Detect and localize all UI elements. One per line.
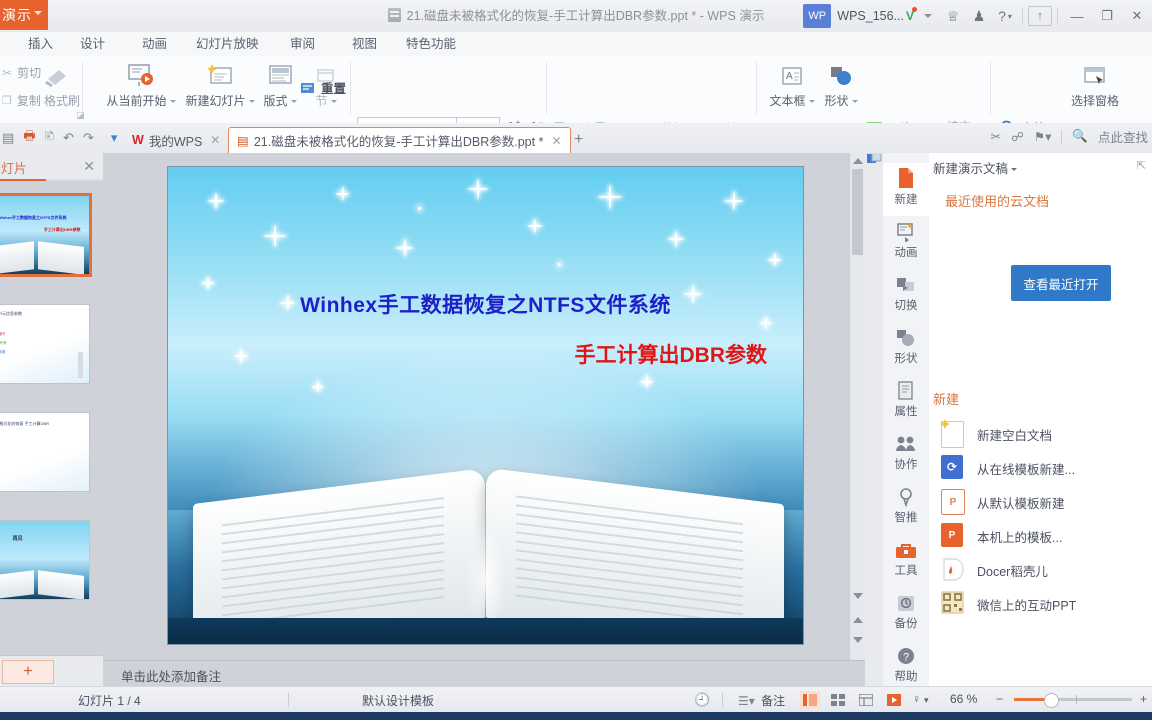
- normal-view-icon: [803, 694, 817, 706]
- star-icon: [640, 375, 653, 388]
- shape-button[interactable]: 形状: [818, 60, 864, 109]
- star-icon: [468, 179, 488, 199]
- search-icon[interactable]: 🔍: [1072, 129, 1088, 144]
- format-painter-icon: [44, 60, 70, 88]
- view-reading-button[interactable]: [856, 691, 876, 709]
- format-painter-label-row[interactable]: 格式刷: [44, 92, 80, 109]
- from-current-slide-label: 从当前开始: [102, 92, 180, 109]
- help-label: ?: [998, 8, 1006, 24]
- rail-label: 动画: [883, 244, 929, 260]
- add-slide-label: +: [23, 663, 32, 681]
- backup-icon: [883, 587, 929, 613]
- rail-item-animation[interactable]: 动画: [883, 216, 929, 269]
- book-illustration: [168, 439, 803, 644]
- account-name[interactable]: WPS_156...V: [837, 9, 918, 23]
- tab-document-label: 21.磁盘未被格式化的恢复-手工计算出DBR参数.ppt *: [254, 131, 544, 150]
- selection-pane-button[interactable]: 选择窗格: [1062, 60, 1128, 109]
- vip-badge-icon: V: [906, 9, 914, 23]
- window-title-text: 21.磁盘未被格式化的恢复-手工计算出DBR参数.ppt * - WPS 演示: [407, 9, 765, 23]
- right-rail: 新建 动画 切换 形状 属性 协作 智推 工具: [883, 153, 930, 686]
- copy-label: 复制: [17, 92, 41, 109]
- star-icon: [234, 349, 248, 363]
- cut-label: 剪切: [17, 64, 41, 81]
- toolbox-icon: [883, 534, 929, 560]
- maximize-button[interactable]: ❐: [1092, 0, 1122, 32]
- title-bar: 演示 21.磁盘未被格式化的恢复-手工计算出DBR参数.ppt * - WPS …: [0, 0, 1152, 33]
- help-circle-icon: ?: [883, 640, 929, 666]
- slide-count-label: 幻灯片 1 / 4: [78, 692, 141, 709]
- rail-item-new[interactable]: 新建: [883, 163, 929, 216]
- reading-view-icon: [859, 694, 873, 706]
- divider: [350, 62, 351, 114]
- tab-slideshow[interactable]: 幻灯片放映: [196, 32, 259, 56]
- customize-toolbar-icon[interactable]: ▾: [111, 130, 118, 146]
- list-item-wechat-ppt[interactable]: 微信上的互动PPT: [941, 587, 1141, 621]
- format-painter-label: 格式刷: [44, 92, 80, 109]
- ppt-file-icon: ▤: [237, 133, 249, 148]
- new-tab-button[interactable]: +: [566, 127, 591, 153]
- redo-icon[interactable]: ↷: [83, 130, 94, 146]
- star-icon: [768, 253, 781, 266]
- divider: [1057, 8, 1058, 24]
- list-item-label: 新建空白文档: [977, 425, 1052, 444]
- textbox-label: 文本框: [766, 92, 818, 109]
- tab-design[interactable]: 设计: [80, 32, 105, 56]
- list-item[interactable]: Winhex手工数据恢复之NTFS文件系统 手工计算出DBR参数: [0, 196, 89, 274]
- panel-header: 新建演示文稿 ⇱: [929, 153, 1152, 179]
- list-item-label: 微信上的互动PPT: [977, 595, 1076, 614]
- properties-icon: [883, 375, 929, 401]
- tab-document[interactable]: ▤ 21.磁盘未被格式化的恢复-手工计算出DBR参数.ppt * ✕: [228, 127, 571, 153]
- close-icon[interactable]: ✕: [210, 133, 220, 147]
- star-icon: [668, 231, 684, 247]
- collapse-panel-icon[interactable]: ⇱: [1137, 159, 1146, 172]
- copy-button[interactable]: ❐ 复制: [2, 92, 41, 109]
- scrollbar-thumb[interactable]: [852, 169, 863, 255]
- tab-insert[interactable]: 插入: [28, 32, 53, 56]
- rail-item-collaborate[interactable]: 协作: [883, 428, 929, 481]
- list-item-local-template[interactable]: P 本机上的模板...: [941, 519, 1141, 553]
- layout-icon: [256, 60, 304, 88]
- history-icon[interactable]: 🕘: [694, 692, 710, 708]
- divider: [288, 693, 289, 707]
- tab-special-features[interactable]: 特色功能: [406, 32, 456, 56]
- divider: [756, 62, 757, 114]
- star-icon: [312, 381, 323, 392]
- print-preview-icon[interactable]: 🗈: [45, 127, 55, 149]
- star-icon: [598, 185, 622, 209]
- rail-label: 新建: [883, 191, 929, 207]
- divider: [1022, 8, 1023, 24]
- notes-pane[interactable]: 单击此处添加备注: [103, 660, 865, 687]
- list-item-docer[interactable]: Docer稻壳儿: [941, 553, 1141, 587]
- share-icon[interactable]: ↑: [1027, 4, 1053, 28]
- search-label[interactable]: 点此查找: [1098, 127, 1148, 146]
- list-item-label: 从在线模板新建...: [977, 459, 1075, 478]
- notes-toggle-label: 备注: [761, 694, 785, 708]
- account-label: WPS_156...: [837, 9, 904, 23]
- ribbon: ✂ 剪切 ❐ 复制 格式刷 ◪ 从当前开始 新建幻灯片: [0, 56, 1152, 124]
- reset-icon: [300, 81, 316, 95]
- docer-icon: [941, 557, 965, 583]
- rail-label: 备份: [883, 615, 929, 631]
- scissors-icon: ✂: [2, 66, 12, 80]
- new-slide-button[interactable]: 新建幻灯片: [184, 60, 256, 109]
- rail-label: 帮助: [883, 668, 929, 684]
- zoom-out-button[interactable]: −: [996, 692, 1003, 706]
- rail-item-tools[interactable]: 工具: [883, 534, 929, 587]
- star-icon: [724, 191, 743, 210]
- notes-icon: ☰▾: [738, 694, 755, 708]
- new-section-heading: 新建: [933, 389, 959, 408]
- reset-label: 重置: [321, 78, 346, 97]
- rail-item-properties[interactable]: 属性: [883, 375, 929, 428]
- notes-toggle-button[interactable]: ☰▾ 备注: [738, 692, 785, 709]
- add-slide-button[interactable]: +: [2, 660, 54, 684]
- list-item-new-blank-doc[interactable]: 新建空白文档: [941, 417, 1141, 451]
- slide-editing-area: Winhex手工数据恢复之NTFS文件系统 手工计算出DBR参数: [103, 153, 865, 660]
- wp-logo-icon: WP: [803, 4, 831, 28]
- flag-icon[interactable]: ⚑▾: [1034, 129, 1051, 144]
- zoom-in-button[interactable]: +: [1140, 692, 1147, 706]
- previous-slide-icon[interactable]: [853, 617, 863, 623]
- rail-label: 智推: [883, 509, 929, 525]
- undo-icon[interactable]: ↶: [63, 130, 74, 146]
- book-desk: [168, 618, 803, 644]
- shape-icon: [818, 60, 864, 88]
- rail-label: 属性: [883, 403, 929, 419]
- minimize-button[interactable]: —: [1062, 0, 1092, 32]
- rail-label: 工具: [883, 562, 929, 578]
- panel-title[interactable]: 新建演示文稿: [933, 158, 1017, 177]
- wps-w-icon: W: [132, 133, 144, 147]
- collaborate-icon: [883, 428, 929, 454]
- zoom-level-label: 66 %: [950, 692, 977, 706]
- tshirt-icon[interactable]: ♟: [966, 4, 992, 28]
- list-item-label: 从默认模板新建: [977, 493, 1065, 512]
- taskbar: [0, 712, 1152, 720]
- new-tab-label: +: [574, 131, 583, 149]
- view-slideshow-button[interactable]: [884, 691, 904, 709]
- slideshow-view-icon: [887, 694, 901, 706]
- rail-item-shape[interactable]: 形状: [883, 322, 929, 375]
- slide-title[interactable]: Winhex手工数据恢复之NTFS文件系统: [168, 289, 803, 319]
- scroll-up-icon[interactable]: [853, 158, 863, 164]
- slide-canvas[interactable]: Winhex手工数据恢复之NTFS文件系统 手工计算出DBR参数: [167, 166, 804, 645]
- format-painter-button[interactable]: [44, 60, 70, 88]
- new-slide-label: 新建幻灯片: [184, 92, 256, 109]
- reset-button[interactable]: 重置: [300, 78, 346, 97]
- divider: [990, 62, 991, 114]
- selection-pane-icon: [1062, 60, 1128, 88]
- zoom-slider-handle[interactable]: [1044, 693, 1059, 708]
- divider: [82, 62, 83, 114]
- status-bar: 幻灯片 1 / 4 默认设计模板 🕘 ☰▾ 备注 ♀▾ 66 % − +: [0, 686, 1152, 713]
- smart-recommend-icon: [883, 481, 929, 507]
- slide-panel-footer: +: [0, 655, 103, 686]
- slide-vertical-scrollbar[interactable]: [849, 153, 865, 660]
- zoom-slider[interactable]: [1014, 698, 1132, 701]
- tab-animation[interactable]: 动画: [142, 32, 167, 56]
- account-chevron-down-icon[interactable]: [924, 14, 932, 18]
- copy-icon: ❐: [2, 94, 12, 107]
- tab-my-wps[interactable]: W 我的WPS ✕: [124, 127, 228, 153]
- recent-cloud-docs-heading: 最近使用的云文档: [945, 191, 1049, 210]
- presenter-icon[interactable]: ♀▾: [912, 692, 929, 706]
- animation-icon: [883, 216, 929, 242]
- tab-strip-right: ✂ ☍ ⚑▾ 🔍 点此查找: [991, 127, 1152, 146]
- notes-placeholder: 单击此处添加备注: [121, 666, 221, 685]
- textbox-icon: A: [766, 60, 818, 88]
- default-template-icon: P: [941, 489, 965, 515]
- new-document-panel: 新建演示文稿 ⇱ 最近使用的云文档 查看最近打开 新建 新建空白文档 ⟳ 从在线…: [929, 153, 1152, 686]
- selection-pane-label: 选择窗格: [1062, 92, 1128, 109]
- list-item[interactable]: 再见: [0, 521, 89, 599]
- scroll-down-icon[interactable]: [853, 593, 863, 599]
- design-template-label: 默认设计模板: [362, 692, 434, 709]
- textbox-button[interactable]: A 文本框: [766, 60, 818, 109]
- help-icon[interactable]: ?▾: [992, 4, 1018, 28]
- svg-text:A: A: [786, 71, 793, 82]
- save-icon[interactable]: ▤: [2, 130, 14, 146]
- document-icon: [388, 8, 401, 22]
- slide-subtitle[interactable]: 手工计算出DBR参数: [575, 339, 768, 369]
- dove-icon[interactable]: ☍: [1011, 129, 1024, 144]
- star-icon: [558, 263, 561, 266]
- from-current-slide-icon: [102, 60, 180, 88]
- view-slide-sorter-button[interactable]: [828, 691, 848, 709]
- tab-my-wps-label: 我的WPS: [149, 131, 202, 150]
- divider: [546, 62, 547, 114]
- list-item[interactable]: 未被格式化的恢复 手工计算DBR: [0, 413, 89, 491]
- shape-label: 形状: [818, 92, 864, 109]
- list-item-label: Docer稻壳儿: [977, 561, 1048, 580]
- star-icon: [336, 187, 349, 200]
- layout-label: 版式: [256, 92, 304, 109]
- slide-sorter-view-icon: [831, 694, 845, 706]
- divider: [0, 179, 103, 181]
- star-icon: [528, 219, 542, 233]
- close-icon[interactable]: ✕: [83, 158, 95, 175]
- from-current-slide-button[interactable]: 从当前开始: [102, 60, 180, 109]
- slide-thumbnail-panel: 幻灯片 ✕ Winhex手工数据恢复之NTFS文件系统 手工计算出DBR参数 D…: [0, 153, 103, 686]
- view-recent-button[interactable]: 查看最近打开: [1011, 265, 1111, 301]
- local-template-icon: P: [941, 523, 965, 549]
- new-slide-icon: [184, 60, 256, 88]
- title-bar-right: WP WPS_156...V ♕ ♟ ?▾ ↑ — ❐ ✕: [803, 0, 1152, 32]
- list-item[interactable]: DBR元信息参数 跳转指令 OEM代号 BPB参数: [0, 305, 89, 383]
- rail-item-transition[interactable]: 切换: [883, 269, 929, 322]
- document-tab-strip: ▤ 🖶 🗈 ↶ ↷ ▾ W 我的WPS ✕ ▤ 21.磁盘未被格式化的恢复-手工…: [0, 123, 1152, 154]
- rail-item-smart-recommend[interactable]: 智推: [883, 481, 929, 534]
- cut-button[interactable]: ✂ 剪切: [2, 64, 41, 81]
- star-icon: [208, 193, 224, 209]
- close-button[interactable]: ✕: [1122, 0, 1152, 32]
- zoom-slider-tick: [1076, 695, 1077, 704]
- list-item-default-template[interactable]: P 从默认模板新建: [941, 485, 1141, 519]
- list-item-online-template[interactable]: ⟳ 从在线模板新建...: [941, 451, 1141, 485]
- wp-logo-text: WP: [808, 10, 826, 22]
- star-icon: [264, 225, 286, 247]
- online-template-icon: ⟳: [941, 455, 965, 481]
- transition-icon: [883, 269, 929, 295]
- quick-access-toolbar: ▤ 🖶 🗈 ↶ ↷ ▾: [2, 127, 117, 149]
- vip-crown-icon[interactable]: ♕: [940, 4, 966, 28]
- svg-text:?: ?: [903, 652, 909, 664]
- rail-label: 切换: [883, 297, 929, 313]
- ribbon-tab-bar: 插入 设计 动画 幻灯片放映 审阅 视图 特色功能: [0, 32, 1152, 57]
- scissors-icon[interactable]: ✂: [991, 129, 1001, 144]
- layout-button[interactable]: 版式: [256, 60, 304, 109]
- rail-label: 协作: [883, 456, 929, 472]
- clipboard-dialog-launcher[interactable]: ◪: [76, 110, 85, 121]
- tab-view[interactable]: 视图: [352, 32, 377, 56]
- star-icon: [396, 239, 413, 256]
- close-icon[interactable]: ✕: [551, 134, 561, 148]
- shape-icon: [883, 322, 929, 348]
- slide-panel-header: 幻灯片 ✕: [0, 153, 103, 181]
- next-slide-icon[interactable]: [853, 637, 863, 643]
- print-icon[interactable]: 🖶: [23, 127, 35, 149]
- new-doc-icon: [883, 163, 929, 189]
- blank-doc-icon: [941, 421, 965, 447]
- star-icon: [202, 277, 214, 289]
- slide-panel-title: 幻灯片: [0, 158, 27, 177]
- divider: [722, 693, 723, 707]
- list-item-label: 本机上的模板...: [977, 527, 1062, 546]
- qrcode-icon: [941, 591, 965, 617]
- rail-item-backup[interactable]: 备份: [883, 587, 929, 640]
- view-normal-button[interactable]: [800, 691, 820, 709]
- view-recent-label: 查看最近打开: [1023, 274, 1098, 293]
- rail-label: 形状: [883, 350, 929, 366]
- tab-review[interactable]: 审阅: [290, 32, 315, 56]
- star-icon: [418, 207, 421, 210]
- wps-presentation-window: 演示 21.磁盘未被格式化的恢复-手工计算出DBR参数.ppt * - WPS …: [0, 0, 1152, 720]
